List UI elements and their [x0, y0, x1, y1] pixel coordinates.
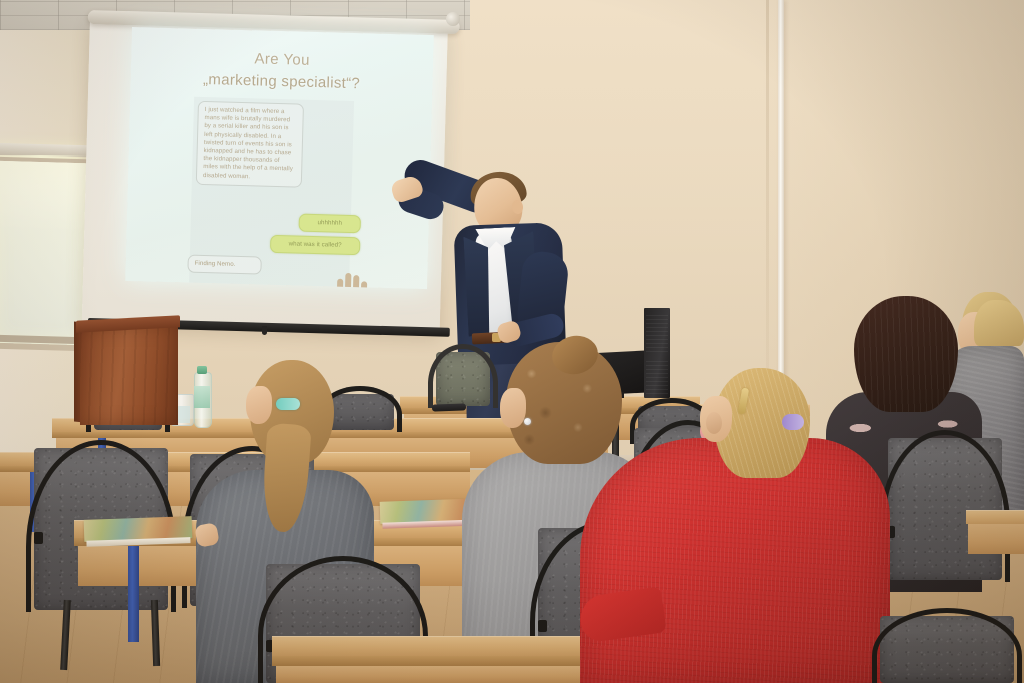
speaker-grille — [646, 312, 668, 352]
chair-right-audience — [880, 430, 1010, 580]
student-grey-knit-hair-top — [974, 300, 1024, 346]
magazine-front-left — [84, 516, 193, 542]
whiteboard-glare — [0, 161, 88, 234]
chat-bubble-incoming-film: I just watched a film where a mans wife … — [196, 101, 304, 188]
student-ponytail-cheek — [246, 386, 272, 424]
phone-holding-hand-graphic — [337, 271, 374, 289]
wall-conduit-pipe — [778, 0, 784, 395]
wall-corner — [766, 0, 769, 400]
water-bottle-label — [194, 386, 210, 408]
lectern-wood-grain — [80, 327, 178, 425]
student-patterned-top-hair-strands — [854, 296, 958, 412]
student-bun-neck — [500, 388, 526, 428]
classroom-photo: Are You „marketing specialist“? I just w… — [0, 0, 1024, 683]
chat-bubble-outgoing-uhhhhhh: uhhhhhh — [299, 214, 361, 234]
student-red-ear — [706, 412, 722, 434]
right-front-desk-top — [966, 510, 1024, 524]
chair-behind-presenter — [428, 344, 498, 406]
speaker-grille-lower — [646, 358, 668, 394]
presentation-remote — [432, 403, 466, 411]
water-bottle-cap — [197, 366, 207, 374]
slide-title-line1: Are You — [131, 47, 433, 72]
front-desk-leg-blue — [128, 546, 139, 642]
chat-bubble-outgoing-what-was-it-called: what was it called? — [270, 235, 360, 256]
chair-front-right — [872, 608, 1022, 683]
projection-screen-pull-knob — [262, 326, 267, 335]
slide-title-line2: „marketing specialist“? — [130, 69, 432, 94]
projected-slide: Are You „marketing specialist“? I just w… — [125, 27, 434, 289]
chat-bubble-incoming-finding-nemo: Finding Nemo. — [187, 255, 261, 275]
student-red-hair-tie — [782, 414, 804, 430]
student-bun-earring — [524, 418, 531, 425]
student-ponytail-scrunchie — [276, 398, 300, 410]
right-front-desk-front — [968, 524, 1024, 554]
